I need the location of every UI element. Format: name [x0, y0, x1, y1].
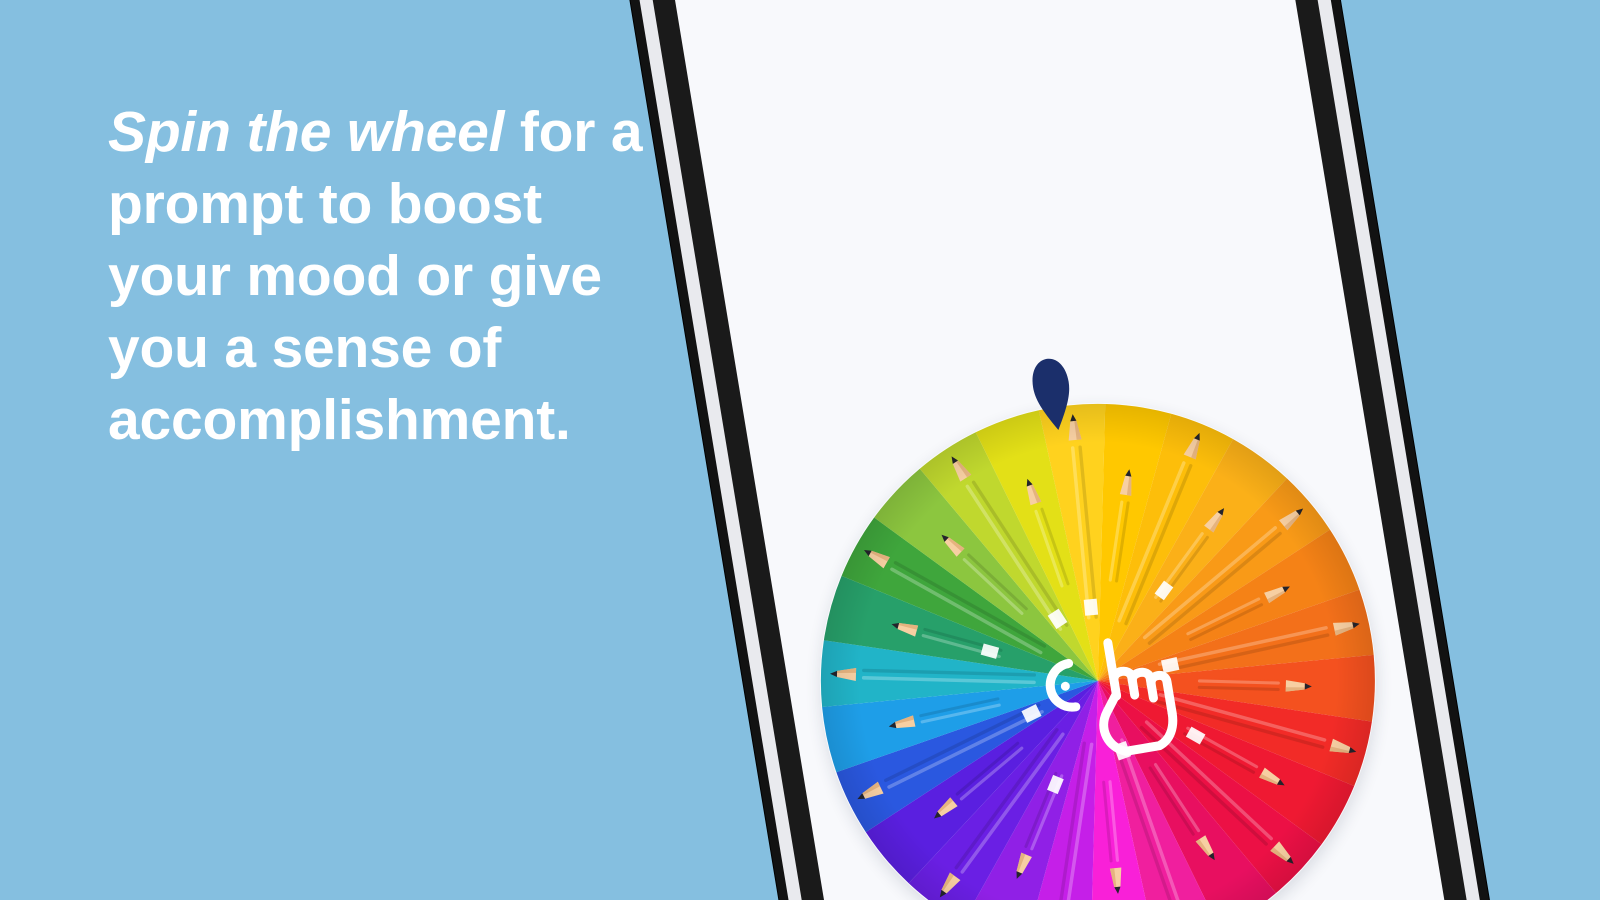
headline-emphasis: Spin the wheel [108, 100, 504, 164]
page-title: Spin the wheel for a prompt to boost you… [108, 96, 648, 456]
phone-bezel: Spin to reveal your five-minute challeng… [599, 0, 1522, 900]
wheel-area[interactable] [778, 361, 1422, 900]
promo-screenshot: Spin the wheel for a prompt to boost you… [0, 0, 1600, 900]
phone-rim-inner: Spin to reveal your five-minute challeng… [624, 0, 1496, 900]
phone-rim-outer: Spin to reveal your five-minute challeng… [609, 0, 1511, 900]
phone-screen: Spin to reveal your five-minute challeng… [649, 0, 1470, 900]
phone-mockup: Spin to reveal your five-minute challeng… [599, 0, 1522, 900]
prize-wheel[interactable] [778, 361, 1417, 900]
